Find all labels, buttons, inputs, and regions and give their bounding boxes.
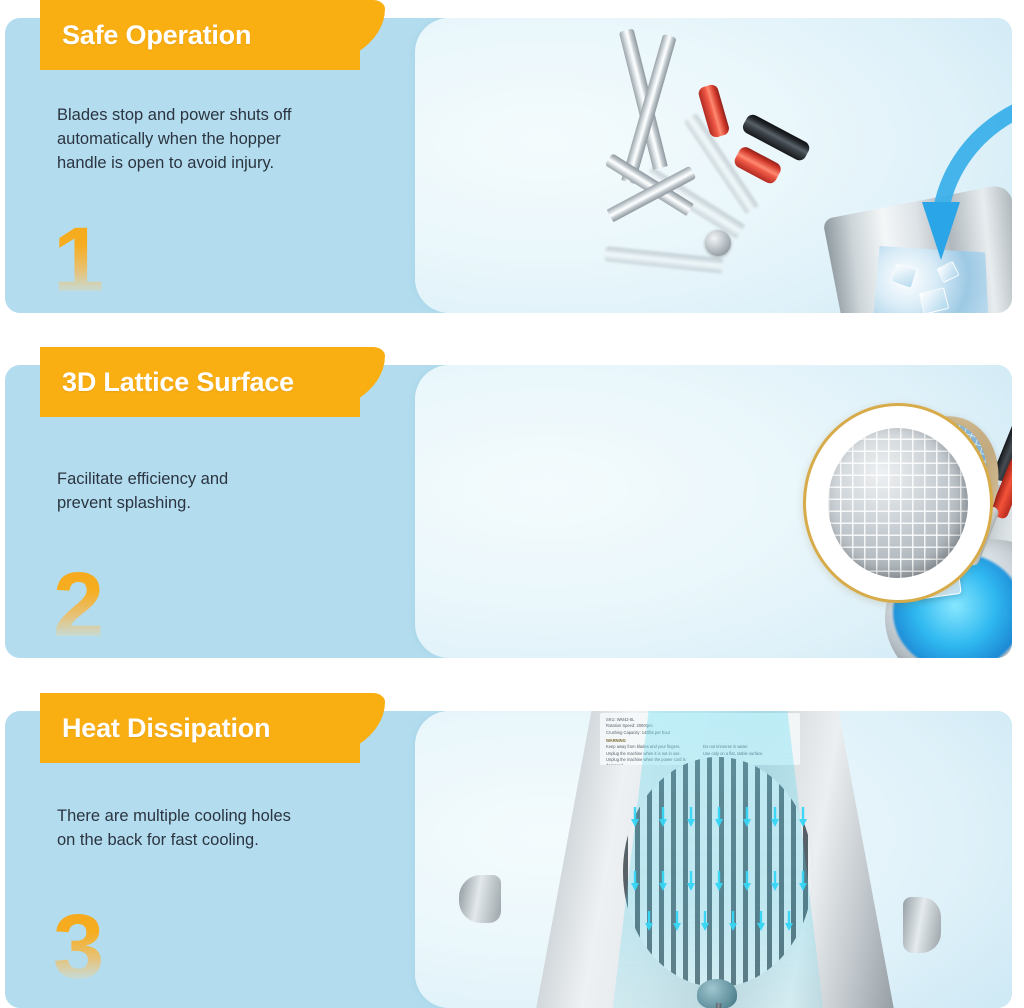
panel-title: Heat Dissipation [62,693,270,763]
step-number: 3 [53,901,104,993]
infographic-page: Blades stop and power shuts off automati… [0,0,1024,1008]
side-bracket-left [459,875,501,923]
step-number: 2 [53,559,104,651]
rotation-arrow-icon [920,84,1012,294]
blade-hub-icon [705,230,731,256]
feature-panel-heat-dissipation: SKU: WM42-5L Rotation Speed: 2000rpm Cru… [5,693,1012,1008]
lattice-closeup-texture [828,428,968,578]
feature-panel-3d-lattice-surface: Facilitate efficiency and prevent splash… [5,347,1012,658]
magnifier-circle [803,403,993,603]
step-number: 1 [53,214,104,306]
side-bracket-right [903,897,941,953]
feature-panel-safe-operation: Blades stop and power shuts off automati… [5,0,1012,313]
panel-body-text: Blades stop and power shuts off automati… [57,104,357,176]
panel-body-text: Facilitate efficiency and prevent splash… [57,468,357,516]
panel-image-safe-operation [415,18,1012,313]
panel-title: 3D Lattice Surface [62,347,294,417]
blade-ghost [604,246,723,273]
panel-body-text: There are multiple cooling holes on the … [57,805,357,853]
panel-image-heat-dissipation: SKU: WM42-5L Rotation Speed: 2000rpm Cru… [415,711,1012,1008]
panel-title: Safe Operation [62,0,251,70]
panel-image-3d-lattice-surface [415,365,1012,658]
